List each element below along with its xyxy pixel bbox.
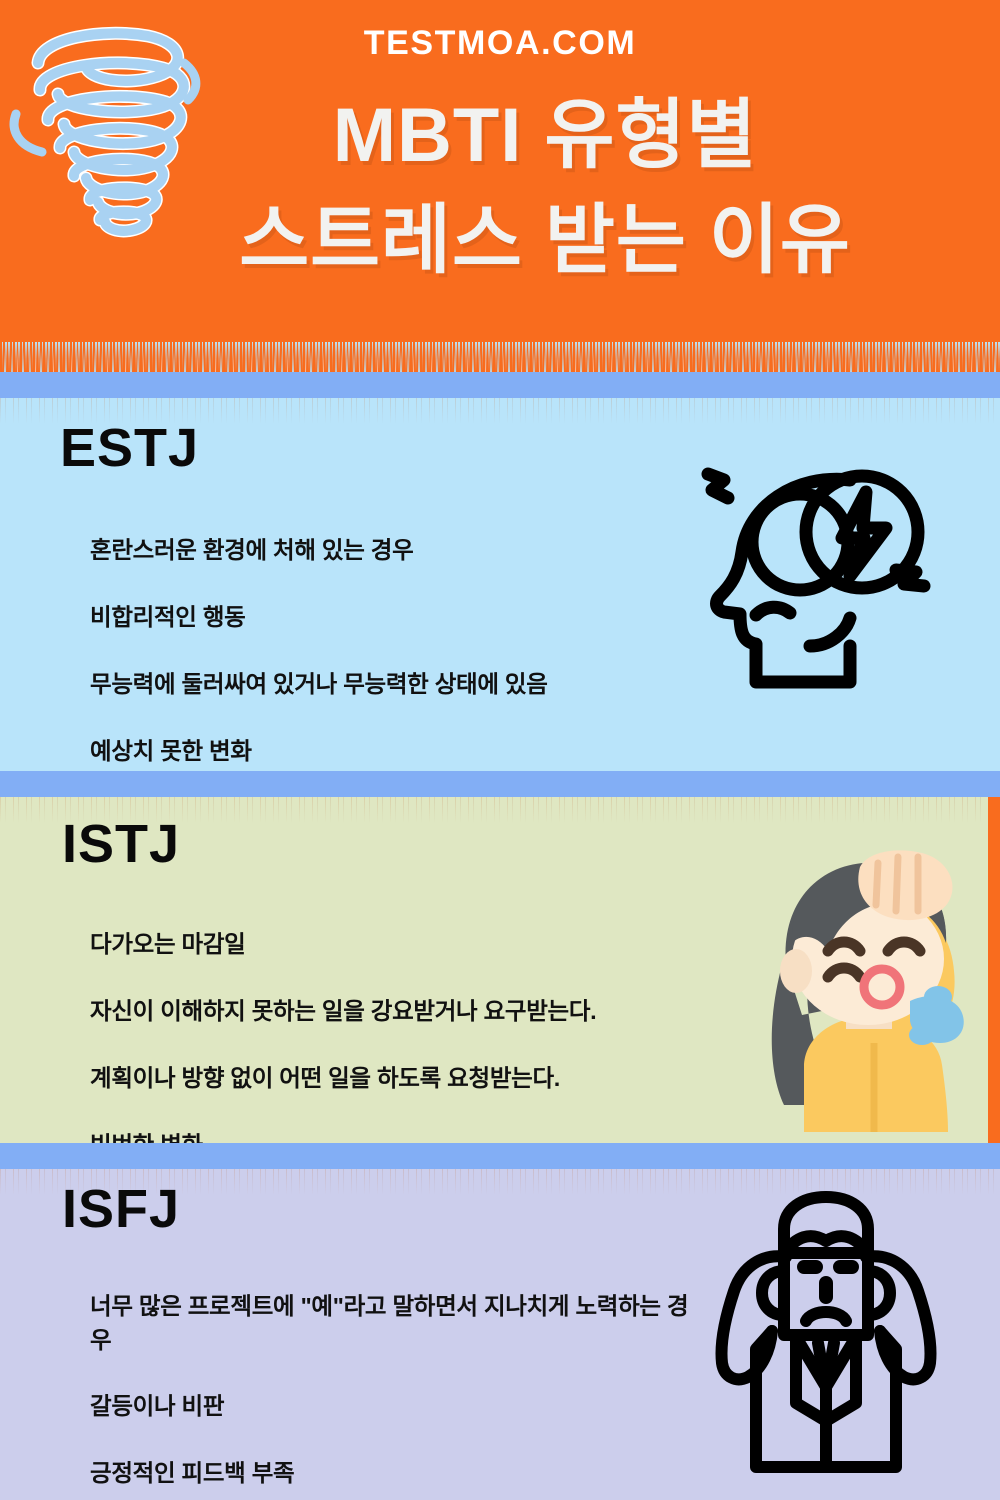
stressed-businessman-icon <box>700 1191 950 1481</box>
page-title: MBTI 유형별 스트레스 받는 이유 <box>0 84 1000 294</box>
reason-item: 갈등이나 비판 <box>90 1390 690 1423</box>
reason-list-isfj: 너무 많은 프로젝트에 "예"라고 말하면서 지나치게 노력하는 경우 갈등이나… <box>90 1257 690 1500</box>
reason-list-estj: 혼란스러운 환경에 처해 있는 경우 비합리적인 행동 무능력에 둘러싸여 있거… <box>90 501 710 771</box>
header-banner: TESTMOA.COM MBTI 유형별 스트레스 받는 이유 <box>0 0 1000 372</box>
reason-item: 예상치 못한 변화 <box>90 735 710 768</box>
stressed-head-lightning-icon <box>700 450 940 700</box>
reason-item: 계획이나 방향 없이 어떤 일을 하도록 요청받는다. <box>90 1062 710 1095</box>
accent-stripe-istj <box>988 797 1000 1143</box>
reason-item: 빈번한 변화 <box>90 1129 710 1143</box>
reason-item: 무능력에 둘러싸여 있거나 무능력한 상태에 있음 <box>90 668 710 701</box>
section-istj: ISTJ 다가오는 마감일 자신이 이해하지 못하는 일을 강요받거나 요구받는… <box>0 797 1000 1143</box>
mbti-code-istj: ISTJ <box>62 817 180 871</box>
divider-band-2 <box>0 771 1000 797</box>
header-torn-edge-overlay <box>0 350 1000 372</box>
section-isfj: ISFJ 너무 많은 프로젝트에 "예"라고 말하면서 지나치게 노력하는 경우… <box>0 1169 1000 1500</box>
section-estj: ESTJ 혼란스러운 환경에 처해 있는 경우 비합리적인 행동 무능력에 둘러… <box>0 398 1000 771</box>
mbti-code-isfj: ISFJ <box>62 1182 180 1236</box>
reason-item: 너무 많은 프로젝트에 "예"라고 말하면서 지나치게 노력하는 경우 <box>90 1290 690 1357</box>
divider-band-3 <box>0 1143 1000 1169</box>
title-line-2: 스트레스 받는 이유 <box>90 189 1000 294</box>
reason-item: 혼란스러운 환경에 처해 있는 경우 <box>90 534 710 567</box>
title-line-1: MBTI 유형별 <box>90 84 1000 189</box>
reason-item: 비합리적인 행동 <box>90 601 710 634</box>
reason-item: 긍정적인 피드백 부족 <box>90 1457 690 1490</box>
infographic-page: TESTMOA.COM MBTI 유형별 스트레스 받는 이유 ESTJ 혼란스… <box>0 0 1000 1500</box>
mbti-code-estj: ESTJ <box>60 421 199 475</box>
reason-list-istj: 다가오는 마감일 자신이 이해하지 못하는 일을 강요받거나 요구받는다. 계획… <box>90 895 710 1143</box>
tired-person-sleepy-icon <box>742 847 974 1132</box>
divider-band-1 <box>0 372 1000 398</box>
reason-item: 자신이 이해하지 못하는 일을 강요받거나 요구받는다. <box>90 995 710 1028</box>
reason-item: 다가오는 마감일 <box>90 928 710 961</box>
site-brand: TESTMOA.COM <box>0 24 1000 63</box>
